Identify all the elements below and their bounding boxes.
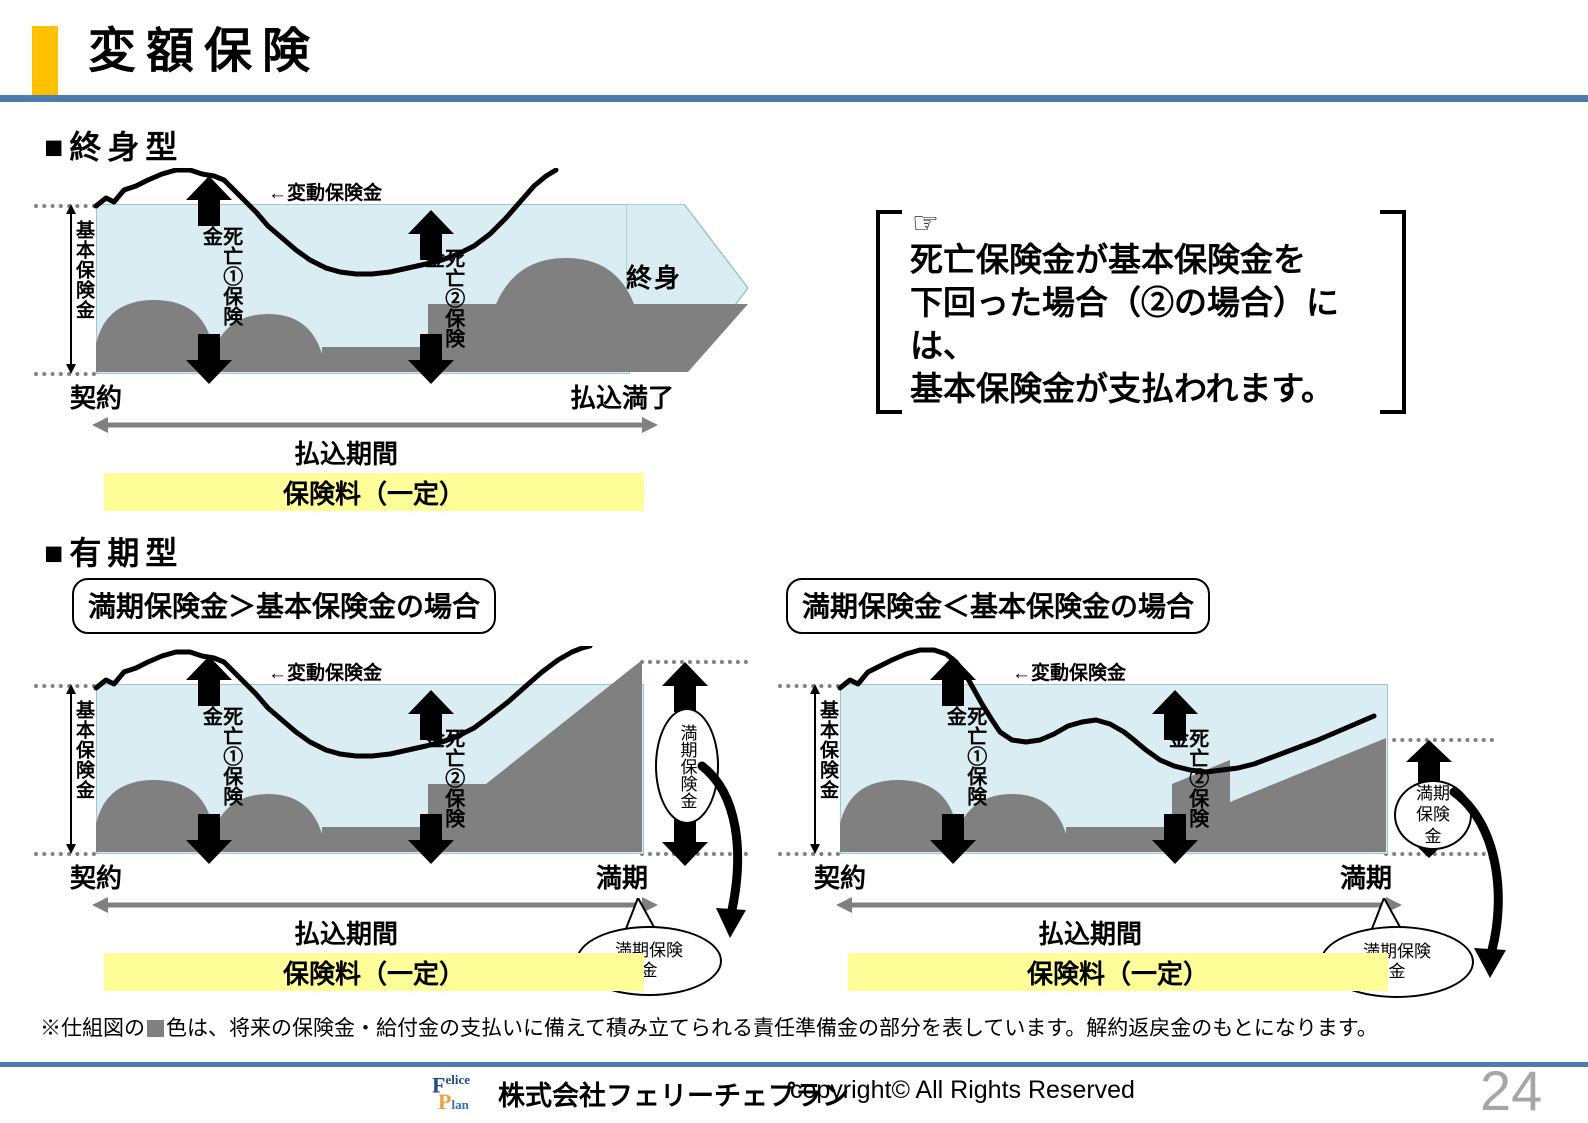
footnote-prefix: ※仕組図の [40,1016,145,1040]
death-benefit-2-label: 死亡②保険金 [1166,728,1207,838]
death-benefit-2-label: 死亡②保険金 [422,728,463,838]
section-heading-term: ■有期型 [44,528,183,574]
felice-plan-logo: Felice Plan [432,1071,494,1111]
bracket-right [1380,210,1406,414]
callout-text: 死亡保険金が基本保険金を 下回った場合（②の場合）には、 基本保険金が支払われま… [910,240,1380,412]
logo-lan: lan [451,1097,468,1112]
callout-box: ☞ 死亡保険金が基本保険金を 下回った場合（②の場合）には、 基本保険金が支払わ… [876,210,1406,406]
copyright-text: copyright© All Rights Reserved [790,1076,1135,1105]
page-title: 変額保険 [88,28,320,76]
death-benefit-1-down-arrow [930,814,976,864]
case-label-maturity-greater: 満期保険金＞基本保険金の場合 [72,578,496,634]
variable-benefit-label: ←変動保険金 [1012,658,1126,685]
payment-period-arrow [92,896,658,914]
payment-period-arrow [836,896,1402,914]
payment-period-label: 払込期間 [294,434,398,471]
death-benefit-1-up-arrow [930,656,976,706]
start-label: 契約 [70,858,122,895]
logo-p: P [438,1089,451,1114]
gray-swatch-icon [147,1020,164,1037]
pointing-hand-icon: ☞ [912,206,939,241]
chart-term-maturity-less: 基本保険金 ←変動保険金 死亡①保険金 死亡②保険金 満期保険金 契約 満期 [772,640,1532,1000]
maturity-benefit-up-arrow [662,662,708,712]
chart-whole-life: 基本保険金 ←変動保険金 死亡①保険金 死亡②保険金 終身 契約 払込満了 [28,168,748,513]
death-benefit-1-down-arrow [186,814,232,864]
death-benefit-1-down-arrow [186,334,232,384]
death-benefit-1-up-arrow [186,656,232,706]
section-heading-whole-life: ■終身型 [44,122,183,168]
footnote-suffix: 色は、将来の保険金・給付金の支払いに備えて積み立てられる責任準備金の部分を表して… [166,1016,1378,1040]
payment-period-label: 払込期間 [294,914,398,951]
premium-band: 保険料（一定） [104,473,644,511]
death-benefit-1-label: 死亡①保険金 [944,706,985,816]
page-number: 24 [1480,1058,1542,1123]
start-label: 契約 [814,858,866,895]
payment-period-arrow [92,416,658,434]
case-label-maturity-less: 満期保険金＜基本保険金の場合 [786,578,1210,634]
bracket-left [876,210,902,414]
callout-line-3: 基本保険金が支払われます。 [910,369,1380,412]
title-divider [0,95,1588,102]
premium-band: 保険料（一定） [104,953,644,991]
title-accent-bar [32,26,58,98]
end-label: 満期 [1340,858,1392,895]
logo-elice: elice [445,1072,470,1087]
end-label: 払込満了 [570,378,674,415]
chart-term-maturity-greater: 基本保険金 ←変動保険金 死亡①保険金 死亡②保険金 満期保険金 契約 満期 [28,640,748,1000]
premium-band: 保険料（一定） [848,953,1388,991]
maturity-transfer-curved-arrow [696,760,760,960]
death-benefit-1-label: 死亡①保険金 [200,226,241,336]
callout-line-2: 下回った場合（②の場合）には、 [910,283,1380,369]
footnote: ※仕組図の色は、将来の保険金・給付金の支払いに備えて積み立てられる責任準備金の部… [40,1012,1560,1042]
death-benefit-1-label: 死亡①保険金 [200,706,241,816]
end-label: 満期 [596,858,648,895]
start-label: 契約 [70,378,122,415]
death-benefit-2-label: 死亡②保険金 [422,248,463,358]
callout-line-1: 死亡保険金が基本保険金を [910,240,1380,283]
payment-period-label: 払込期間 [1038,914,1142,951]
logo-line-bottom: Plan [438,1089,469,1115]
maturity-benefit-up-arrow [1406,740,1452,786]
variable-benefit-label: ←変動保険金 [268,178,382,205]
whole-life-label: 終身 [626,258,682,295]
death-benefit-1-up-arrow [186,176,232,226]
variable-benefit-label: ←変動保険金 [268,658,382,685]
